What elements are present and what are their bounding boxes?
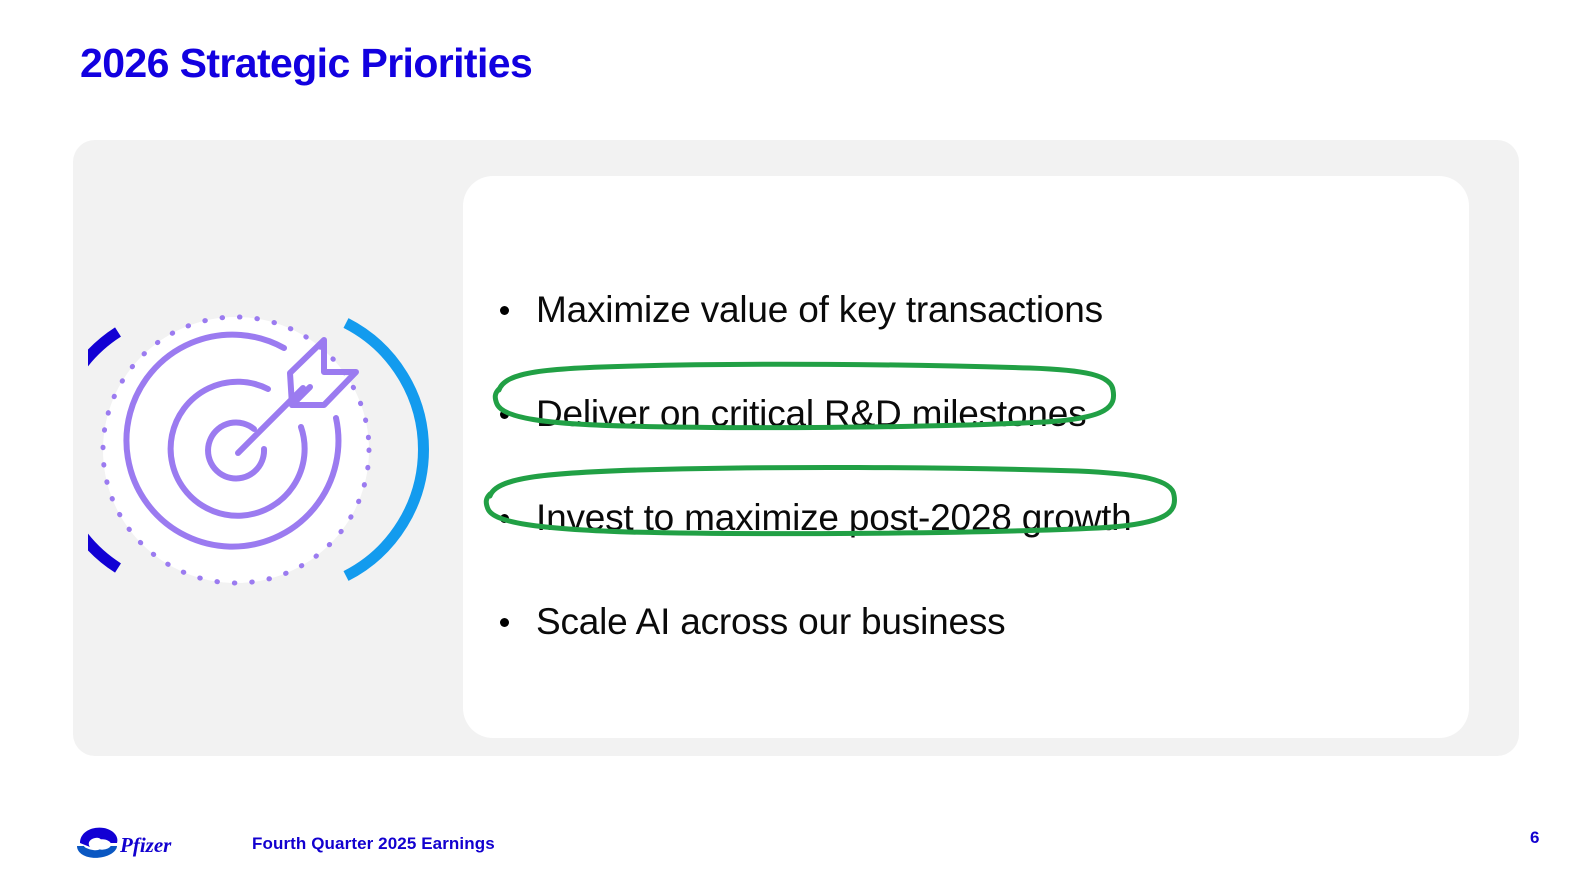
list-item: Maximize value of key transactions [497,258,1447,362]
strategic-priorities-list: Maximize value of key transactions Deliv… [497,258,1447,674]
target-bullseye-icon [88,288,432,612]
list-item: Deliver on critical R&D milestones [497,362,1447,466]
list-item: Scale AI across our business [497,570,1447,674]
page-number: 6 [1530,828,1539,848]
bullet-dot-icon [500,306,509,315]
bullet-dot-icon [500,514,509,523]
svg-text:Pfizer: Pfizer [119,833,172,857]
list-item-label: Maximize value of key transactions [536,290,1103,331]
footer-caption: Fourth Quarter 2025 Earnings [252,834,495,854]
bullet-dot-icon [500,618,509,627]
page-title: 2026 Strategic Priorities [80,40,532,87]
pfizer-logo: Pfizer [72,822,180,862]
list-item: Invest to maximize post-2028 growth [497,466,1447,570]
list-item-label: Scale AI across our business [536,602,1005,643]
list-item-label: Invest to maximize post-2028 growth [536,498,1132,539]
bullet-dot-icon [500,410,509,419]
list-item-label: Deliver on critical R&D milestones [536,394,1086,435]
